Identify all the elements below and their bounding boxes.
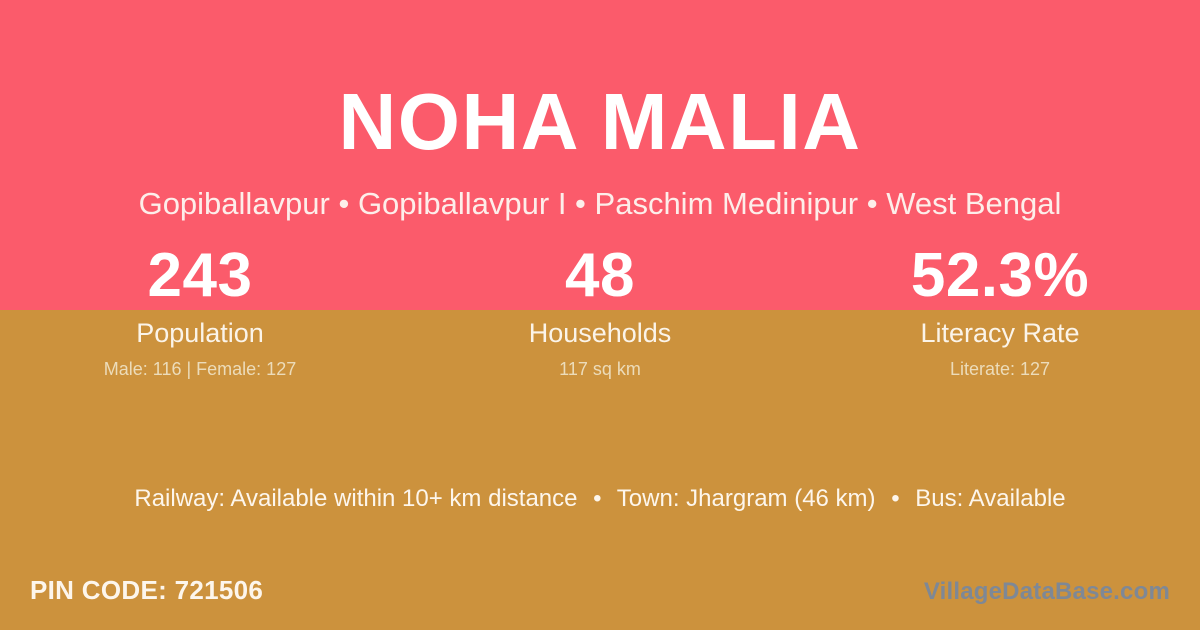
breadcrumb: Gopiballavpur • Gopiballavpur I • Paschi… [0, 162, 1200, 219]
statistics-row: 243 Population Male: 116 | Female: 127 4… [0, 240, 1200, 379]
stat-value: 48 [400, 240, 800, 312]
stat-subtext: 117 sq km [400, 359, 800, 379]
stat-households: 48 Households 117 sq km [400, 240, 800, 379]
card-footer: PIN CODE: 721506 VillageDataBase.com [0, 570, 1200, 630]
bullet-separator-icon: • [584, 484, 610, 514]
bullet-separator-icon: • [882, 484, 908, 514]
infrastructure-summary: Railway: Available within 10+ km distanc… [0, 484, 1200, 514]
infra-town: Town: Jhargram (46 km) [617, 485, 876, 512]
card-header: NOHA MALIA Gopiballavpur • Gopiballavpur… [0, 0, 1200, 219]
page-title: NOHA MALIA [0, 0, 1200, 162]
pin-code-label: PIN CODE: 721506 [30, 574, 263, 606]
village-info-card: NOHA MALIA Gopiballavpur • Gopiballavpur… [0, 0, 1200, 630]
stat-label: Literacy Rate [800, 318, 1200, 348]
stat-population: 243 Population Male: 116 | Female: 127 [0, 240, 400, 379]
infra-railway: Railway: Available within 10+ km distanc… [134, 485, 577, 512]
stat-literacy-rate: 52.3% Literacy Rate Literate: 127 [800, 240, 1200, 379]
stat-value: 52.3% [800, 240, 1200, 312]
stat-value: 243 [0, 240, 400, 312]
infra-bus: Bus: Available [915, 485, 1065, 512]
stat-label: Households [400, 318, 800, 348]
stat-subtext: Male: 116 | Female: 127 [0, 359, 400, 379]
stat-label: Population [0, 318, 400, 348]
stat-subtext: Literate: 127 [800, 359, 1200, 379]
site-brand-watermark: VillageDataBase.com [924, 578, 1170, 606]
